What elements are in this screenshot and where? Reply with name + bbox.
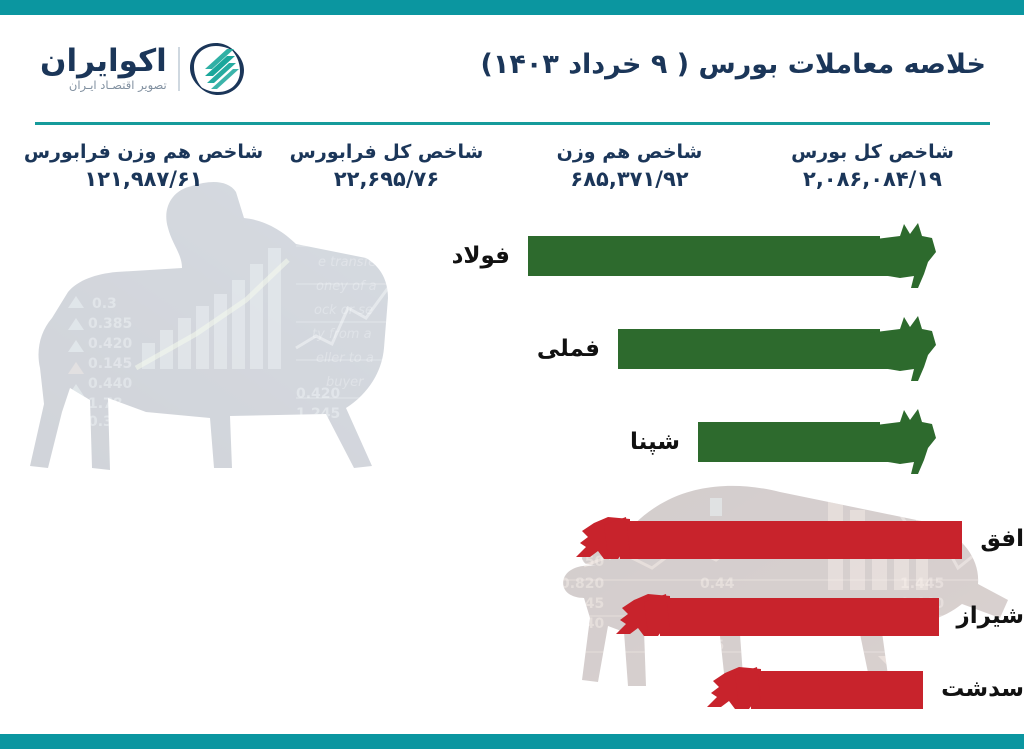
bottom-accent-bar xyxy=(0,734,1024,749)
bar-row: افق xyxy=(0,505,1024,573)
bar-label: افق xyxy=(980,526,1024,552)
bull-bar[interactable] xyxy=(698,408,938,476)
logo-text-block: اکوایران تصویر اقتصـاد ایـران xyxy=(40,45,169,93)
bar-row: شپنا xyxy=(0,408,1024,476)
stat-label: شاخص کل بورس xyxy=(751,140,994,166)
bar-row: شیراز xyxy=(0,582,1024,650)
stat-value: ۱۲۱,۹۸۷/۶۱ xyxy=(22,166,265,193)
stat-value: ۲۲,۶۹۵/۷۶ xyxy=(265,166,508,193)
index-stats-row: شاخص کل بورس ۲,۰۸۶,۰۸۴/۱۹ شاخص هم وزن ۶۸… xyxy=(0,140,1024,202)
bull-bar[interactable] xyxy=(528,222,938,290)
stat-label: شاخص کل فرابورس xyxy=(265,140,508,166)
stat-farabourse-total-index: شاخص کل فرابورس ۲۲,۶۹۵/۷۶ xyxy=(265,140,508,202)
page-title: خلاصه معاملات بورس ( ۹ خرداد ۱۴۰۳) xyxy=(481,49,986,80)
bull-bar[interactable] xyxy=(618,315,938,383)
stat-value: ۶۸۵,۳۷۱/۹۲ xyxy=(508,166,751,193)
impact-bar-chart: فولاد فملی xyxy=(0,200,1024,734)
stat-label: شاخص هم وزن فرابورس xyxy=(22,140,265,166)
stat-label: شاخص هم وزن xyxy=(508,140,751,166)
header-divider xyxy=(35,122,990,125)
stat-value: ۲,۰۸۶,۰۸۴/۱۹ xyxy=(751,166,994,193)
infographic-canvas: arkets me e transfer oney of a ock or se… xyxy=(0,0,1024,749)
bar-label: شپنا xyxy=(630,429,680,455)
brand-logo[interactable]: اکوایران تصویر اقتصـاد ایـران xyxy=(40,41,245,97)
bar-label: فولاد xyxy=(452,243,510,269)
bear-bar[interactable] xyxy=(574,505,962,573)
header: اکوایران تصویر اقتصـاد ایـران خلاصه معام… xyxy=(0,15,1024,120)
logo-tagline: تصویر اقتصـاد ایـران xyxy=(40,78,167,93)
logo-name: اکوایران xyxy=(40,45,167,78)
eco-iran-globe-icon xyxy=(189,41,245,97)
bar-label: شیراز xyxy=(957,603,1024,629)
bear-bar[interactable] xyxy=(705,655,923,723)
top-accent-bar xyxy=(0,0,1024,15)
bar-label: سدشت xyxy=(941,676,1024,702)
bear-bar[interactable] xyxy=(614,582,939,650)
bar-row: سدشت xyxy=(0,655,1024,723)
stat-total-index: شاخص کل بورس ۲,۰۸۶,۰۸۴/۱۹ xyxy=(751,140,994,202)
bar-row: فولاد xyxy=(0,222,1024,290)
stat-farabourse-equal-weight-index: شاخص هم وزن فرابورس ۱۲۱,۹۸۷/۶۱ xyxy=(22,140,265,202)
logo-divider xyxy=(178,47,180,91)
bar-label: فملی xyxy=(537,336,600,362)
bar-row: فملی xyxy=(0,315,1024,383)
stat-equal-weight-index: شاخص هم وزن ۶۸۵,۳۷۱/۹۲ xyxy=(508,140,751,202)
